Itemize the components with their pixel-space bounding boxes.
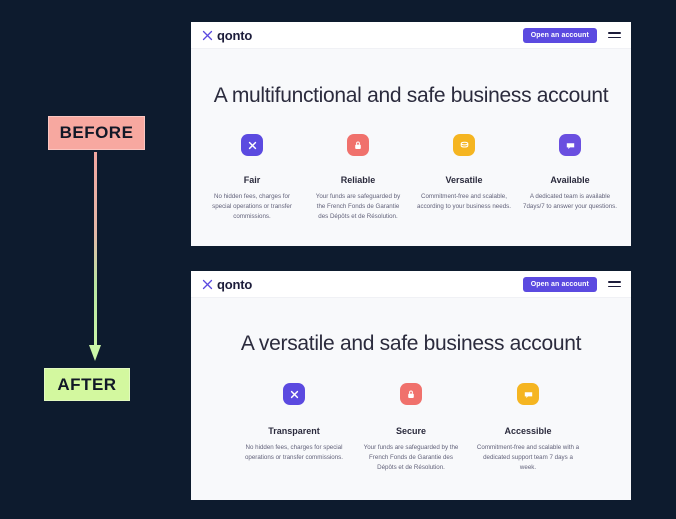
burger-line — [608, 37, 621, 39]
feature-title: Versatile — [417, 175, 511, 185]
star-badge-icon — [283, 383, 305, 405]
after-hamburger-menu-icon[interactable] — [608, 281, 621, 287]
feature-description: Commitment-free and scalable, according … — [417, 192, 511, 212]
lock-shield-icon — [347, 134, 369, 156]
after-headline: A versatile and safe business account — [191, 332, 631, 356]
before-navbar: qonto Open an account — [191, 22, 631, 49]
feature-item: Secure Your funds are safeguarded by the… — [353, 383, 470, 474]
after-hero: A versatile and safe business account Tr… — [191, 298, 631, 500]
before-logo[interactable]: qonto — [202, 28, 252, 43]
lock-shield-icon — [400, 383, 422, 405]
feature-title: Transparent — [242, 426, 347, 436]
feature-item: Accessible Commitment-free and scalable … — [470, 383, 587, 474]
before-hamburger-menu-icon[interactable] — [608, 32, 621, 38]
chat-bubble-icon — [559, 134, 581, 156]
feature-description: No hidden fees, charges for special oper… — [242, 443, 347, 463]
arrow-head-icon — [89, 345, 101, 361]
burger-line — [608, 286, 621, 288]
after-badge: AFTER — [44, 368, 130, 401]
before-logo-text: qonto — [217, 28, 252, 43]
after-logo[interactable]: qonto — [202, 277, 252, 292]
burger-line — [608, 281, 621, 283]
before-after-rail: BEFORE AFTER — [0, 0, 190, 519]
feature-item: Versatile Commitment-free and scalable, … — [411, 134, 517, 223]
arrow-shaft — [94, 152, 97, 348]
after-open-account-button[interactable]: Open an account — [523, 277, 597, 292]
before-hero: A multifunctional and safe business acco… — [191, 49, 631, 246]
before-webpage-panel: qonto Open an account A multifunctional … — [191, 22, 631, 246]
after-logo-text: qonto — [217, 277, 252, 292]
chat-bubble-icon — [517, 383, 539, 405]
after-feature-list: Transparent No hidden fees, charges for … — [191, 383, 631, 474]
feature-description: No hidden fees, charges for special oper… — [205, 192, 299, 223]
feature-item: Reliable Your funds are safeguarded by t… — [305, 134, 411, 223]
coins-stack-icon — [453, 134, 475, 156]
burger-line — [608, 32, 621, 34]
feature-description: Your funds are safeguarded by the French… — [359, 443, 464, 474]
transition-arrow — [88, 152, 104, 364]
qonto-x-mark-icon — [202, 279, 213, 290]
feature-title: Fair — [205, 175, 299, 185]
before-badge: BEFORE — [48, 116, 145, 150]
feature-description: Your funds are safeguarded by the French… — [311, 192, 405, 223]
feature-description: Commitment-free and scalable with a dedi… — [476, 443, 581, 474]
before-headline: A multifunctional and safe business acco… — [191, 84, 631, 108]
feature-item: Available A dedicated team is available … — [517, 134, 623, 223]
feature-title: Available — [523, 175, 617, 185]
qonto-x-mark-icon — [202, 30, 213, 41]
feature-title: Secure — [359, 426, 464, 436]
feature-item: Transparent No hidden fees, charges for … — [236, 383, 353, 474]
after-webpage-panel: qonto Open an account A versatile and sa… — [191, 271, 631, 500]
before-feature-list: Fair No hidden fees, charges for special… — [191, 134, 631, 223]
feature-description: A dedicated team is available 7days/7 to… — [523, 192, 617, 212]
feature-item: Fair No hidden fees, charges for special… — [199, 134, 305, 223]
feature-title: Reliable — [311, 175, 405, 185]
star-badge-icon — [241, 134, 263, 156]
before-open-account-button[interactable]: Open an account — [523, 28, 597, 43]
feature-title: Accessible — [476, 426, 581, 436]
after-navbar: qonto Open an account — [191, 271, 631, 298]
